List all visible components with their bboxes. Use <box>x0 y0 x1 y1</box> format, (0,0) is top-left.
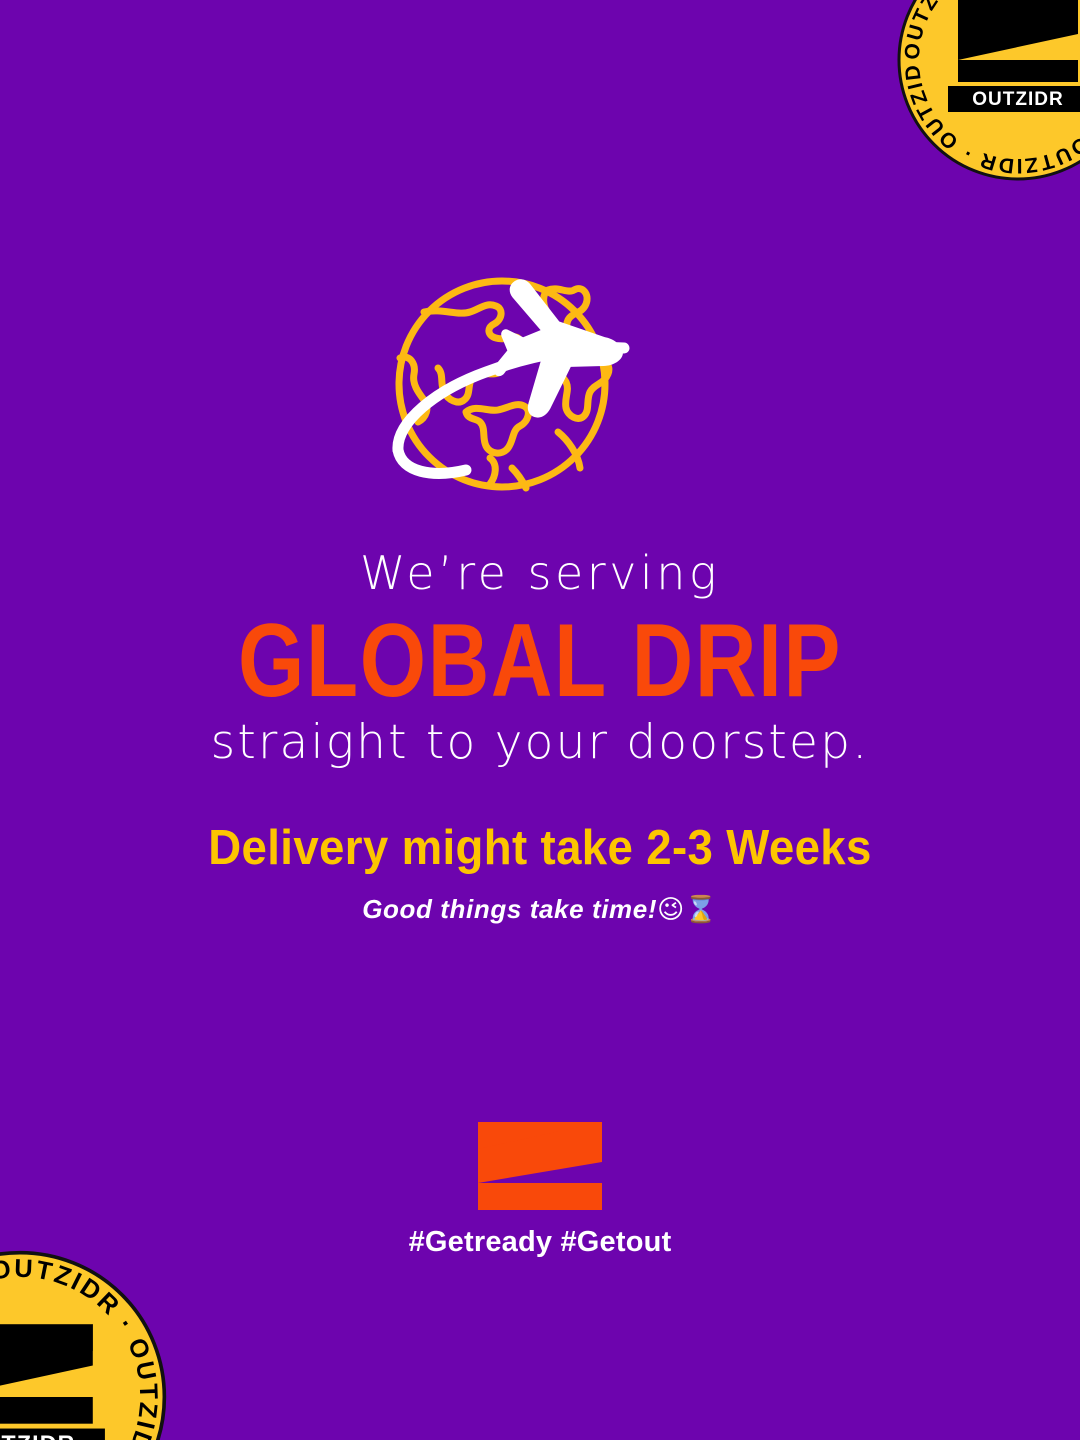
headline-kicker: We’re serving <box>0 548 1080 600</box>
headline-block: We’re serving GLOBAL DRIP straight to yo… <box>0 548 1080 770</box>
globe-icon <box>399 281 609 488</box>
hourglass-icon: ⌛ <box>685 895 718 925</box>
delivery-note-block: Delivery might take 2-3 Weeks Good thing… <box>0 820 1080 925</box>
badge-center-wordmark: OUTZIDR <box>0 1431 75 1440</box>
promo-poster: OUTZIDR · OUTZIDR · OUTZIDR · OUTZIDR · … <box>0 0 1080 1440</box>
outzidr-z-mark-icon <box>478 1122 602 1210</box>
badge-center-wordmark: OUTZIDR <box>972 89 1063 110</box>
globe-with-airplane-icon <box>362 272 718 510</box>
page-title: GLOBAL DRIP <box>97 612 983 712</box>
wink-face-icon: 😉 <box>657 895 685 925</box>
delivery-subtext: Good things take time!😉⌛ <box>0 894 1080 925</box>
headline-tail: straight to your doorstep. <box>0 717 1080 770</box>
footer-lockup: #Getready #Getout <box>0 1122 1080 1259</box>
outzidr-sticker-badge-bottom-left: OUTZIDR · OUTZIDR · OUTZIDR · OUTZIDR · … <box>0 1249 168 1440</box>
delivery-headline: Delivery might take 2-3 Weeks <box>38 820 1042 876</box>
hashtags: #Getready #Getout <box>0 1226 1080 1259</box>
outzidr-sticker-badge-top-right: OUTZIDR · OUTZIDR · OUTZIDR · OUTZIDR · … <box>896 0 1080 182</box>
delivery-subtext-label: Good things take time! <box>362 894 657 924</box>
